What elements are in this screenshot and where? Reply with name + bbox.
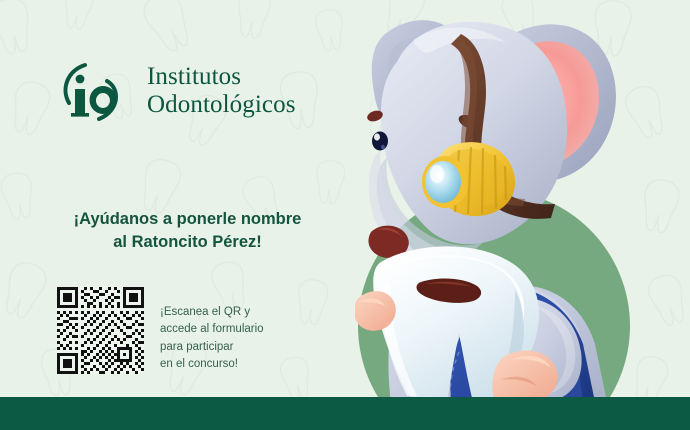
- qr-code[interactable]: [57, 287, 144, 374]
- bottom-green-band: [0, 397, 690, 430]
- qr-caption-line-4: en el concurso!: [160, 356, 300, 373]
- qr-caption-line-3: para participar: [160, 339, 300, 356]
- headline-line-2: al Ratoncito Pérez!: [55, 231, 320, 254]
- brand-line-2: Odontológicos: [147, 91, 296, 120]
- headline: ¡Ayúdanos a ponerle nombre al Ratoncito …: [55, 208, 320, 255]
- qr-caption-line-2: accede al formulario: [160, 321, 300, 338]
- io-monogram-icon: [55, 55, 139, 127]
- brand-line-1: Institutos: [147, 63, 296, 92]
- mouse-dentist-illustration: [355, 0, 645, 402]
- qr-caption: ¡Escanea el QR y accede al formulario pa…: [160, 304, 300, 374]
- headline-line-1: ¡Ayúdanos a ponerle nombre: [55, 208, 320, 231]
- brand-name: Institutos Odontológicos: [147, 63, 296, 120]
- qr-caption-line-1: ¡Escanea el QR y: [160, 304, 300, 321]
- mouse-eye: [372, 132, 388, 151]
- poster-canvas: Institutos Odontológicos ¡Ayúdanos a pon…: [0, 0, 690, 430]
- brand-logo: Institutos Odontológicos: [55, 55, 296, 127]
